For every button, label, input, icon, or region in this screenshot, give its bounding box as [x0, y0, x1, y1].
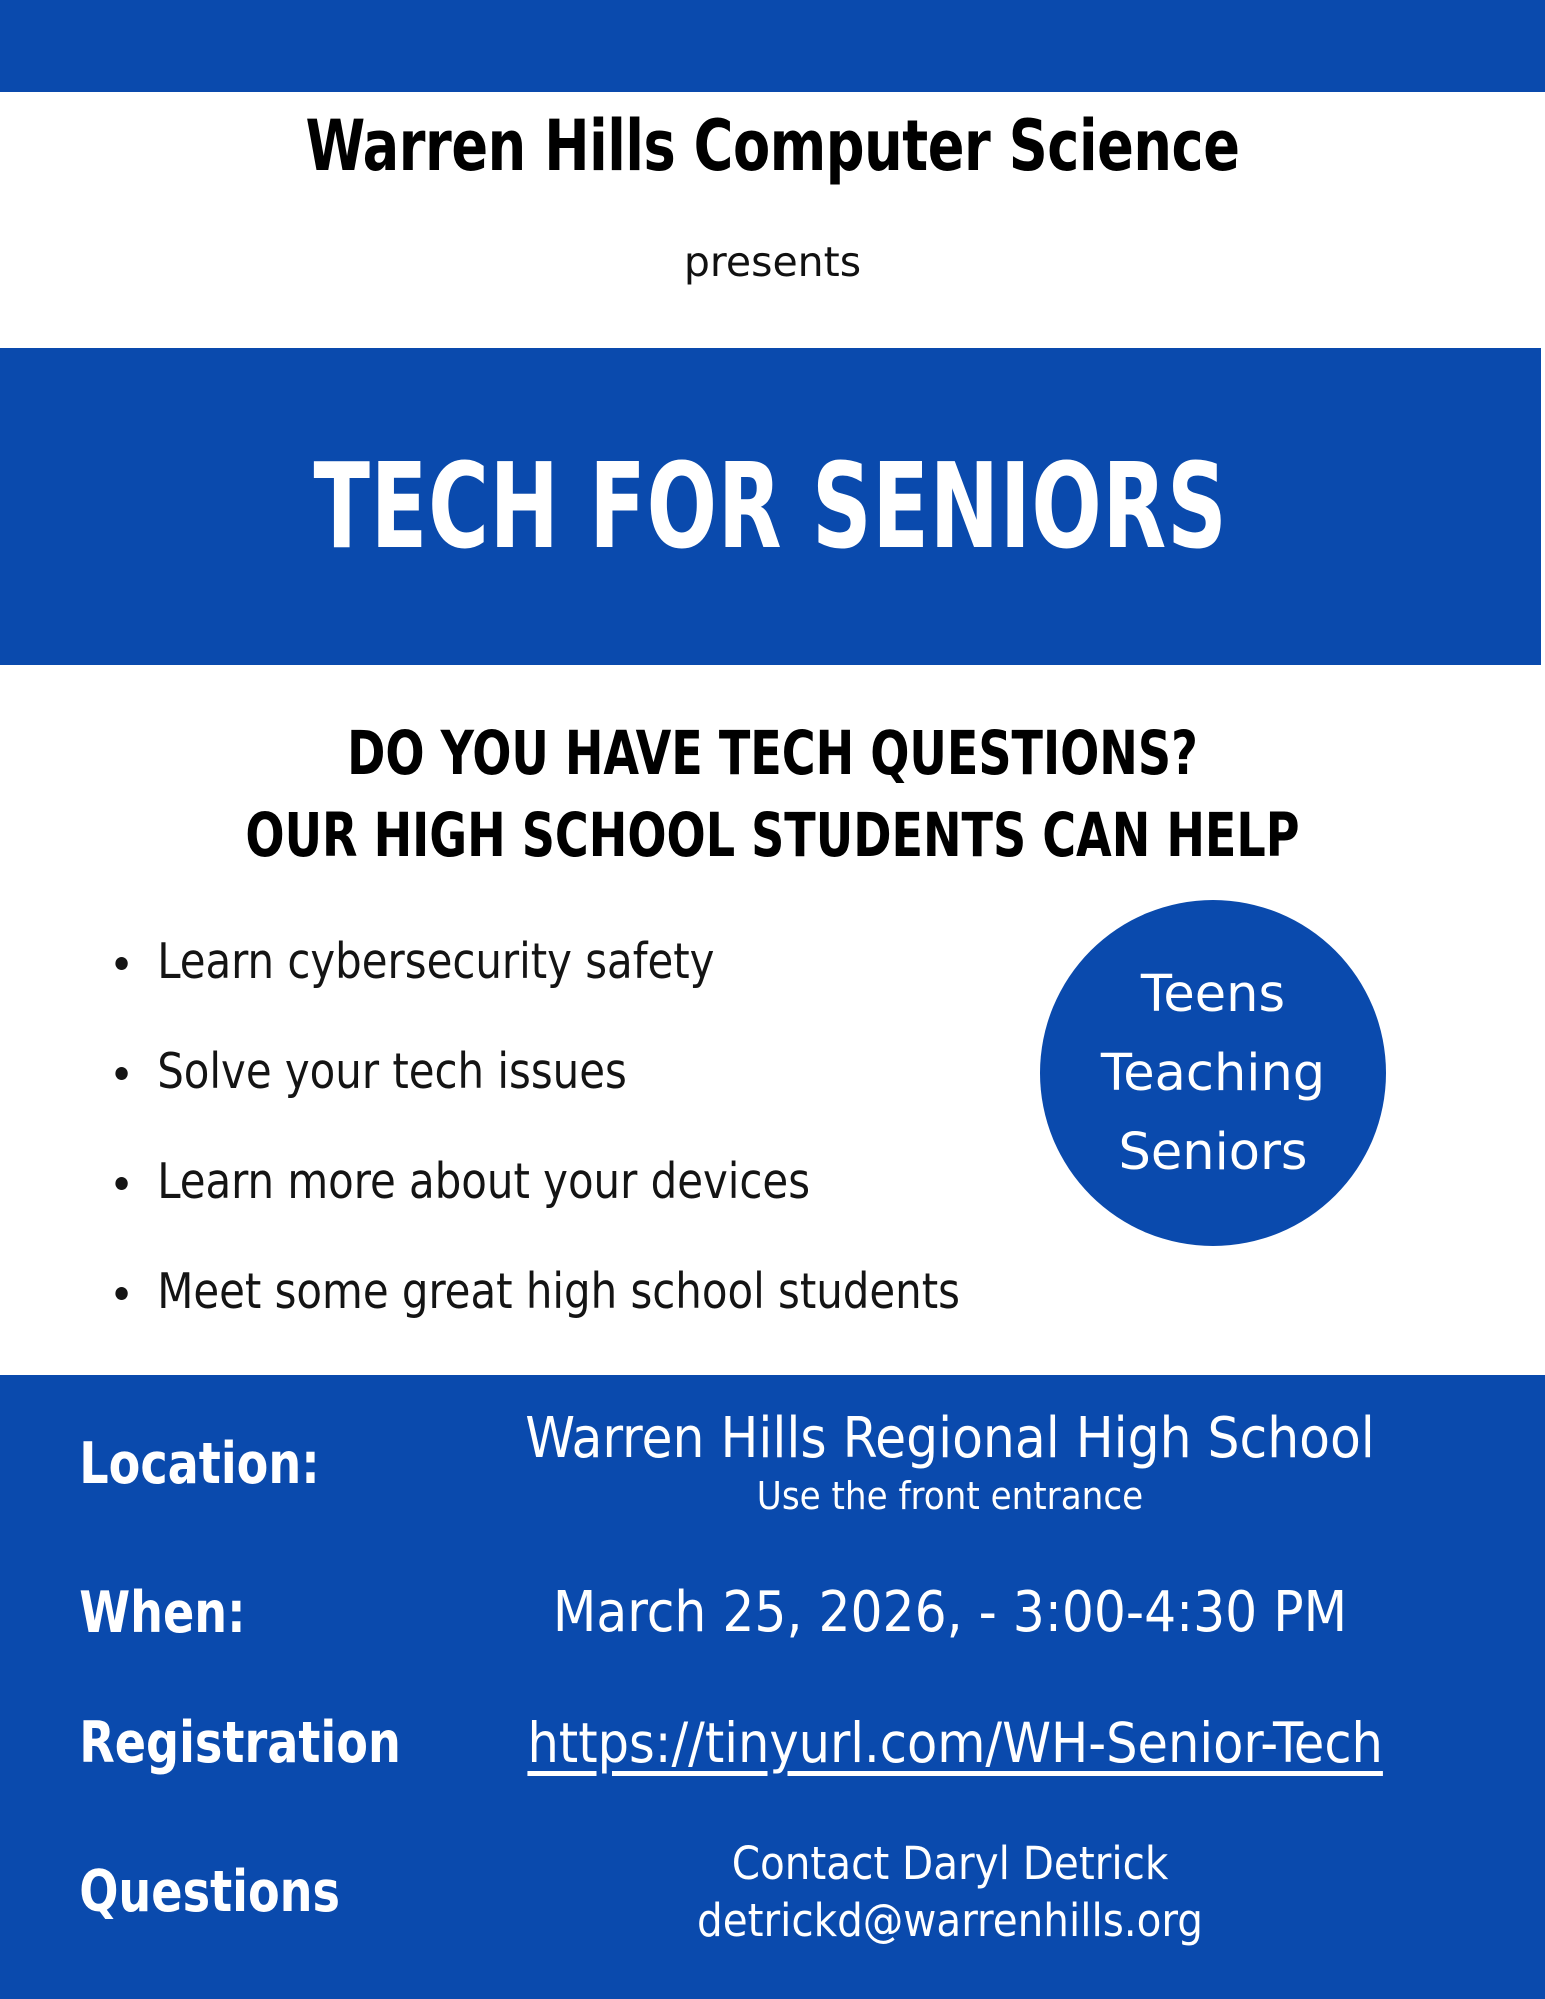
location-value-group: Warren Hills Regional High School Use th… [435, 1407, 1545, 1521]
when-value: March 25, 2026, - 3:00-4:30 PM [435, 1581, 1465, 1645]
organization-title: Warren Hills Computer Science [108, 104, 1437, 188]
detail-row-when: When: March 25, 2026, - 3:00-4:30 PM [0, 1580, 1545, 1646]
list-item-label: Meet some great high school students [157, 1263, 960, 1320]
presents-label: presents [0, 237, 1545, 287]
benefits-list: Learn cybersecurity safety Solve your te… [104, 935, 1064, 1319]
badge-line-1: Teens [1141, 955, 1285, 1034]
questions-label: Questions [0, 1859, 392, 1925]
subheading-line-2: OUR HIGH SCHOOL STUDENTS CAN HELP [124, 795, 1422, 877]
list-item-label: Learn more about your devices [157, 1153, 810, 1210]
registration-value-group: https://tinyurl.com/WH-Senior-Tech [445, 1711, 1545, 1775]
when-value-group: March 25, 2026, - 3:00-4:30 PM [435, 1581, 1545, 1645]
list-item-label: Learn cybersecurity safety [157, 933, 714, 990]
detail-row-registration: Registration https://tinyurl.com/WH-Seni… [0, 1710, 1545, 1776]
top-accent-band [0, 0, 1545, 92]
event-details: Location: Warren Hills Regional High Sch… [0, 1375, 1545, 1999]
subheading: DO YOU HAVE TECH QUESTIONS? OUR HIGH SCH… [124, 713, 1422, 877]
location-label: Location: [0, 1431, 392, 1497]
questions-value-group: Contact Daryl Detrick detrickd@warrenhil… [435, 1835, 1545, 1949]
contact-email[interactable]: detrickd@warrenhills.org [435, 1892, 1465, 1949]
list-item-label: Solve your tech issues [157, 1043, 627, 1100]
list-item: Meet some great high school students [104, 1265, 1016, 1319]
location-value: Warren Hills Regional High School [435, 1407, 1465, 1471]
contact-name: Contact Daryl Detrick [435, 1835, 1465, 1892]
list-item: Solve your tech issues [104, 1045, 1016, 1099]
flyer-page: Warren Hills Computer Science presents T… [0, 0, 1545, 1999]
detail-row-questions: Questions Contact Daryl Detrick detrickd… [0, 1835, 1545, 1949]
teens-teaching-seniors-badge: Teens Teaching Seniors [1040, 900, 1386, 1246]
event-title: TECH FOR SENIORS [170, 440, 1372, 572]
badge-line-3: Seniors [1119, 1113, 1308, 1192]
subheading-line-1: DO YOU HAVE TECH QUESTIONS? [124, 713, 1422, 795]
location-note: Use the front entrance [435, 1471, 1465, 1521]
list-item: Learn cybersecurity safety [104, 935, 1016, 989]
when-label: When: [0, 1580, 392, 1646]
registration-label: Registration [0, 1710, 401, 1776]
registration-link[interactable]: https://tinyurl.com/WH-Senior-Tech [527, 1711, 1382, 1775]
list-item: Learn more about your devices [104, 1155, 1016, 1209]
detail-row-location: Location: Warren Hills Regional High Sch… [0, 1407, 1545, 1521]
badge-line-2: Teaching [1101, 1034, 1325, 1113]
